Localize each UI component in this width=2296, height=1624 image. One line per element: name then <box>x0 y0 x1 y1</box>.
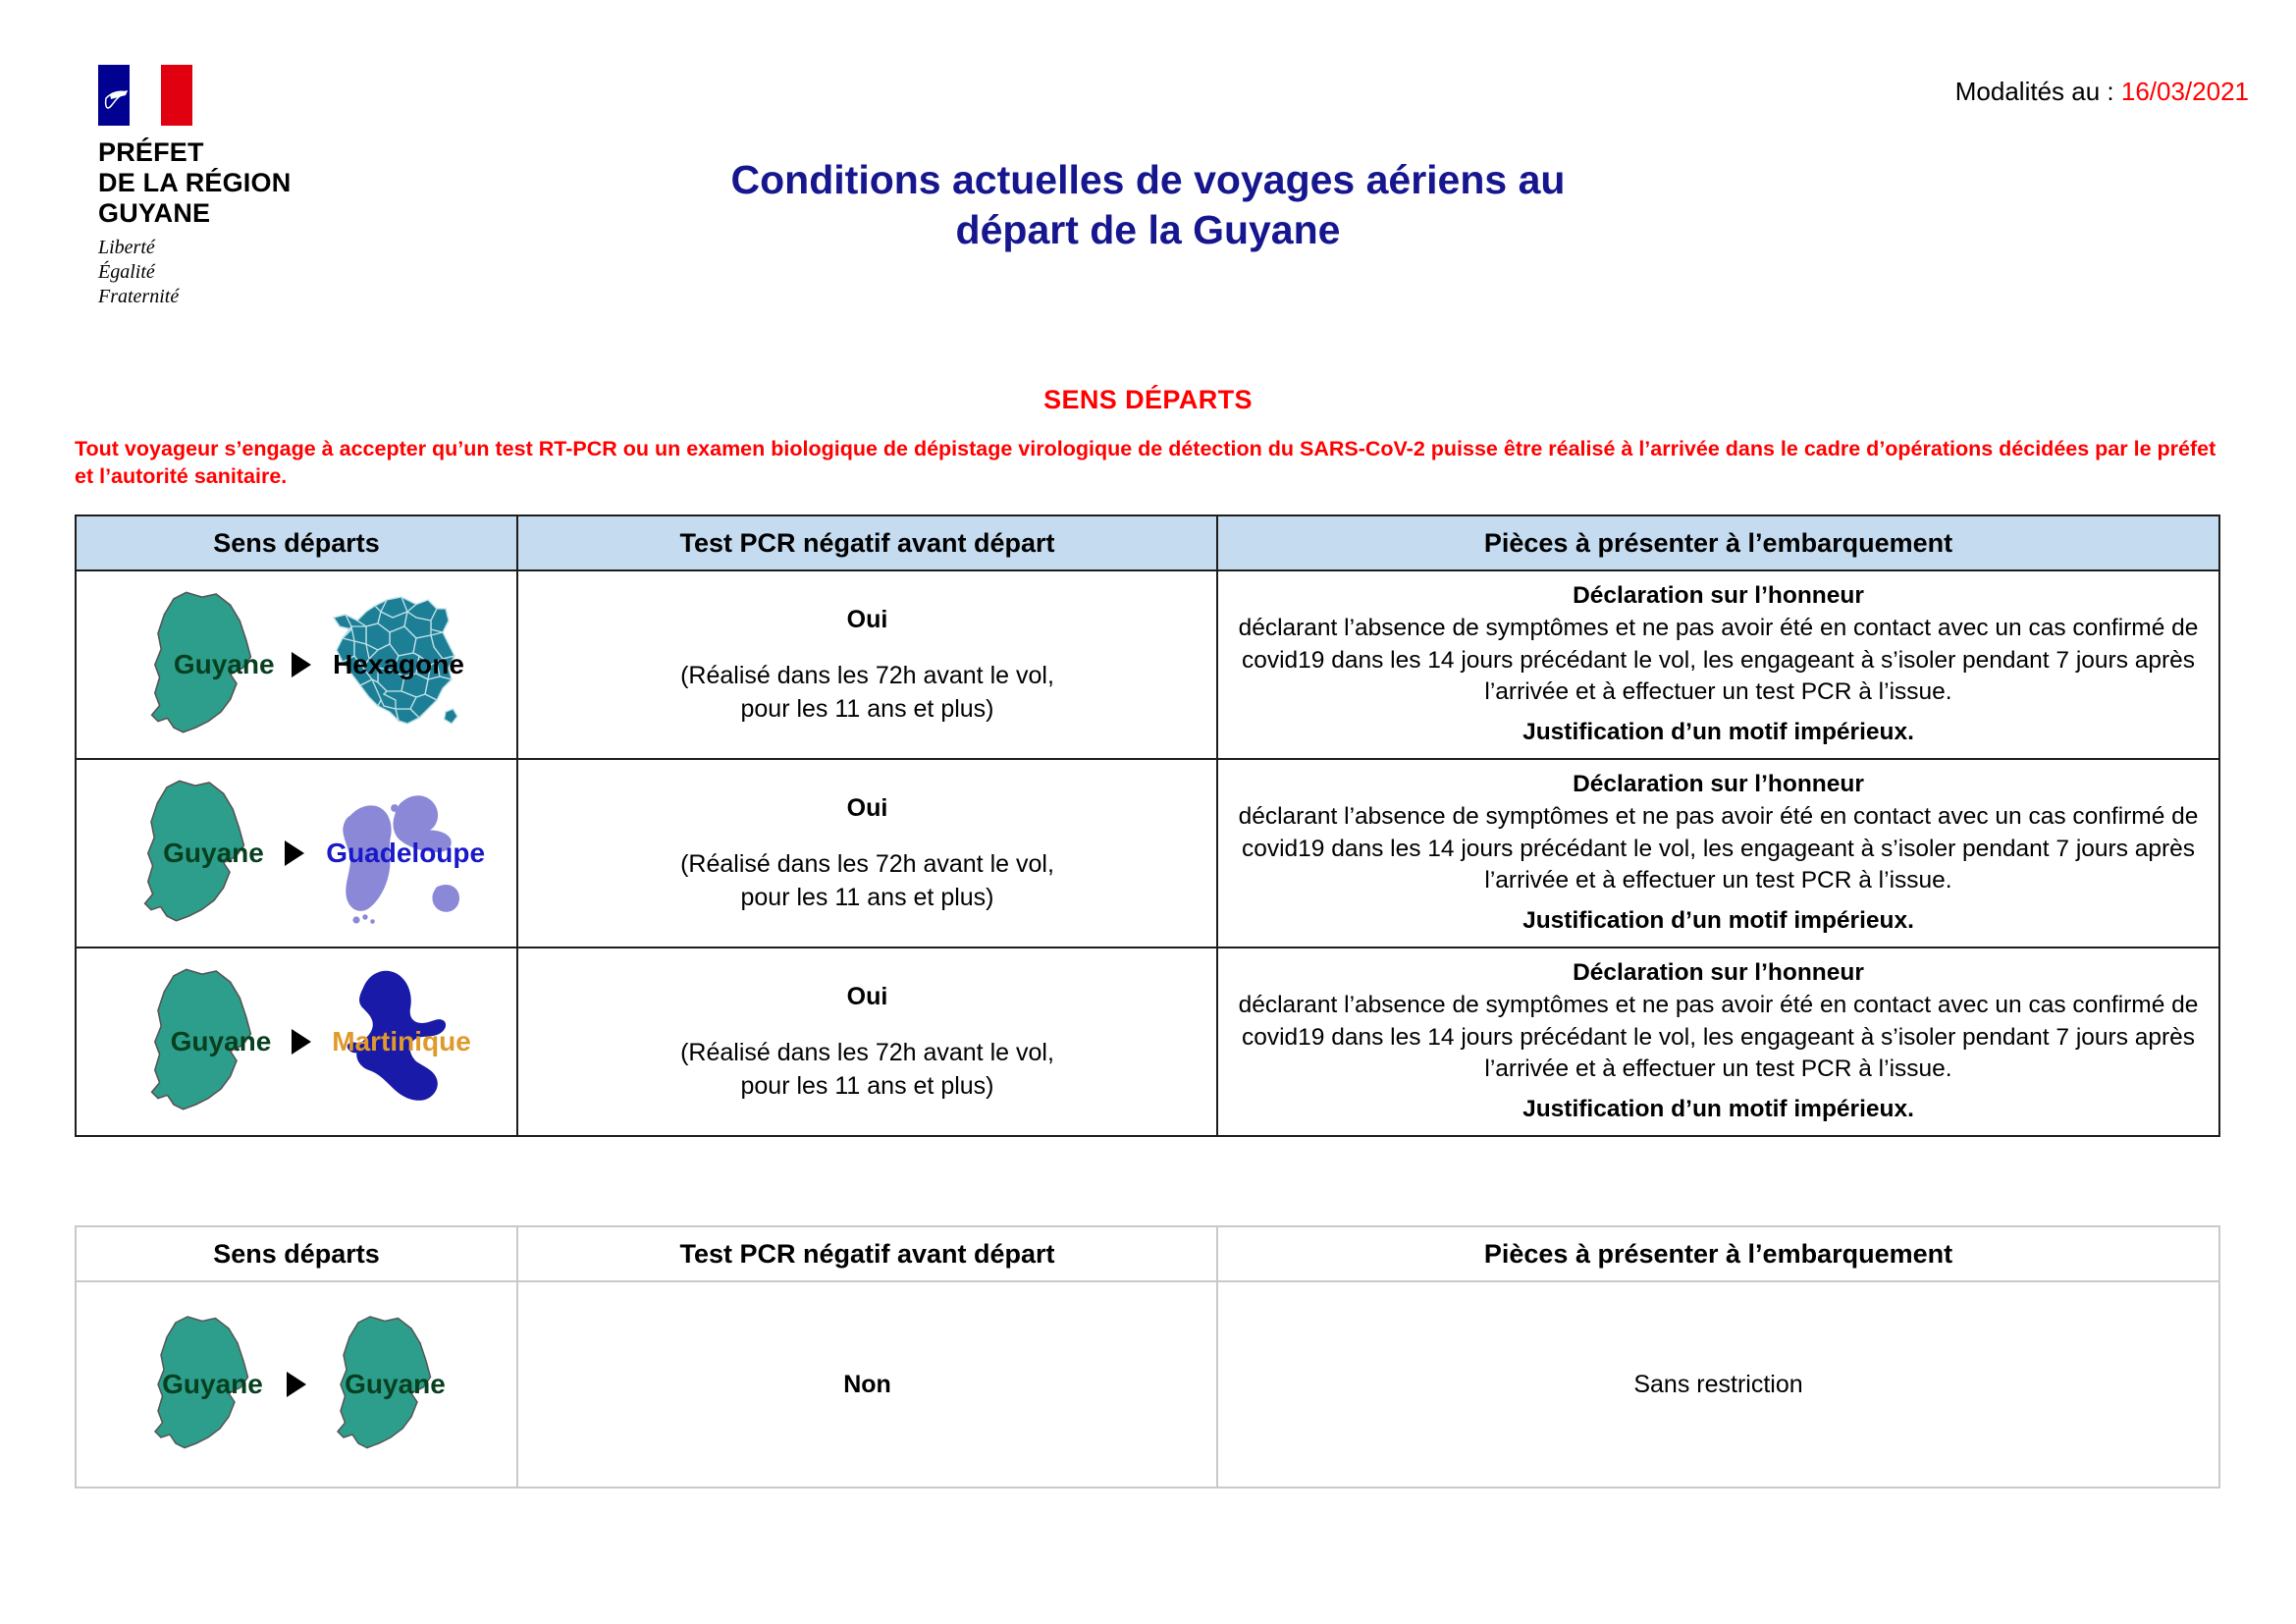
pcr-answer: Oui <box>518 980 1216 1014</box>
motto-fraternite: Fraternité <box>98 285 353 309</box>
route-cell-guyane-hexagone: Guyane <box>76 570 517 759</box>
guyane-map-icon <box>132 1311 279 1458</box>
hexagone-map-icon <box>319 591 466 738</box>
route-cell-guyane-guadeloupe: Guyane <box>76 759 517 947</box>
guyane-map-icon <box>120 775 277 932</box>
modalities-date-label: Modalités au : <box>1955 77 2121 106</box>
pcr-cell: Oui (Réalisé dans les 72h avant le vol, … <box>517 570 1217 759</box>
route-cell-guyane-guyane: Guyane Guyane <box>76 1281 517 1488</box>
route-cell-guyane-martinique: Guyane Martinique <box>76 947 517 1136</box>
document-footer: Justification d’un motif impérieux. <box>1218 717 2218 749</box>
pcr-detail-line1: (Réalisé dans les 72h avant le vol, <box>518 1036 1216 1070</box>
notice-text: Tout voyageur s’engage à accepter qu’un … <box>75 435 2224 491</box>
map-guyane: Guyane <box>127 586 284 743</box>
documents-cell: Déclaration sur l’honneur déclarant l’ab… <box>1217 570 2219 759</box>
french-flag-marianne-icon <box>98 65 192 126</box>
page-title-line2: départ de la Guyane <box>0 205 2296 255</box>
guyane-map-icon <box>314 1311 461 1458</box>
pcr-detail-line2: pour les 11 ans et plus) <box>518 692 1216 727</box>
departures-table-internal: Sens départs Test PCR négatif avant dépa… <box>75 1225 2220 1489</box>
map-guyane-destination: Guyane <box>314 1311 461 1458</box>
table-row: Guyane Martinique Oui <box>76 947 2219 1136</box>
pcr-answer: Oui <box>518 791 1216 826</box>
page-title: Conditions actuelles de voyages aériens … <box>0 155 2296 255</box>
pcr-detail-line1: (Réalisé dans les 72h avant le vol, <box>518 847 1216 882</box>
pcr-answer: Oui <box>518 603 1216 637</box>
motto-egalite: Égalité <box>98 260 353 285</box>
document-body: déclarant l’absence de symptômes et ne p… <box>1218 613 2218 709</box>
table-row: Guyane <box>76 570 2219 759</box>
table-header-row: Sens départs Test PCR négatif avant dépa… <box>76 1226 2219 1281</box>
map-guyane: Guyane <box>120 775 277 932</box>
column-header-documents: Pièces à présenter à l’embarquement <box>1217 1226 2219 1281</box>
table-row: Guyane Guyane Non Sans restriction <box>76 1281 2219 1488</box>
page-title-line1: Conditions actuelles de voyages aériens … <box>0 155 2296 205</box>
modalities-date-value: 16/03/2021 <box>2121 77 2249 106</box>
document-body: déclarant l’absence de symptômes et ne p… <box>1218 801 2218 897</box>
right-triangle-arrow-icon <box>287 1372 306 1397</box>
document-title: Déclaration sur l’honneur <box>1218 580 2218 613</box>
martinique-map-icon <box>319 961 466 1123</box>
document-footer: Justification d’un motif impérieux. <box>1218 905 2218 938</box>
map-guadeloupe: Guadeloupe <box>312 778 474 930</box>
documents-cell: Déclaration sur l’honneur déclarant l’ab… <box>1217 759 2219 947</box>
document-body: déclarant l’absence de symptômes et ne p… <box>1218 990 2218 1086</box>
modalities-date: Modalités au : 16/03/2021 <box>1955 77 2249 107</box>
map-guyane-origin: Guyane <box>132 1311 279 1458</box>
documents-cell: Sans restriction <box>1217 1281 2219 1488</box>
column-header-pcr: Test PCR négatif avant départ <box>517 515 1217 570</box>
pcr-cell: Oui (Réalisé dans les 72h avant le vol, … <box>517 947 1217 1136</box>
column-header-documents: Pièces à présenter à l’embarquement <box>1217 515 2219 570</box>
route-graphic: Guyane <box>77 571 516 758</box>
column-header-route: Sens départs <box>76 515 517 570</box>
document-page: Modalités au : 16/03/2021 PRÉFET DE LA R… <box>0 0 2296 1624</box>
column-header-pcr: Test PCR négatif avant départ <box>517 1226 1217 1281</box>
guadeloupe-map-icon <box>312 778 474 930</box>
document-title: Déclaration sur l’honneur <box>1218 769 2218 801</box>
pcr-detail-line2: pour les 11 ans et plus) <box>518 881 1216 915</box>
departures-table-restricted: Sens départs Test PCR négatif avant dépa… <box>75 514 2220 1137</box>
map-guyane: Guyane <box>127 963 284 1120</box>
pcr-detail-line2: pour les 11 ans et plus) <box>518 1069 1216 1104</box>
right-triangle-arrow-icon <box>292 652 311 677</box>
documents-cell: Déclaration sur l’honneur déclarant l’ab… <box>1217 947 2219 1136</box>
route-graphic: Guyane Martinique <box>77 948 516 1135</box>
guyane-map-icon <box>127 963 284 1120</box>
route-graphic: Guyane <box>77 760 516 947</box>
right-triangle-arrow-icon <box>285 840 304 866</box>
table-row: Guyane <box>76 759 2219 947</box>
column-header-route: Sens départs <box>76 1226 517 1281</box>
document-title: Déclaration sur l’honneur <box>1218 957 2218 990</box>
section-heading: SENS DÉPARTS <box>0 385 2296 415</box>
document-footer: Justification d’un motif impérieux. <box>1218 1094 2218 1126</box>
pcr-cell: Non <box>517 1281 1217 1488</box>
guyane-map-icon <box>127 586 284 743</box>
map-hexagone: Hexagone <box>319 591 466 738</box>
pcr-detail-line1: (Réalisé dans les 72h avant le vol, <box>518 659 1216 693</box>
route-graphic: Guyane Guyane <box>77 1282 516 1487</box>
table-header-row: Sens départs Test PCR négatif avant dépa… <box>76 515 2219 570</box>
pcr-cell: Oui (Réalisé dans les 72h avant le vol, … <box>517 759 1217 947</box>
right-triangle-arrow-icon <box>292 1029 311 1055</box>
map-martinique: Martinique <box>319 961 466 1123</box>
